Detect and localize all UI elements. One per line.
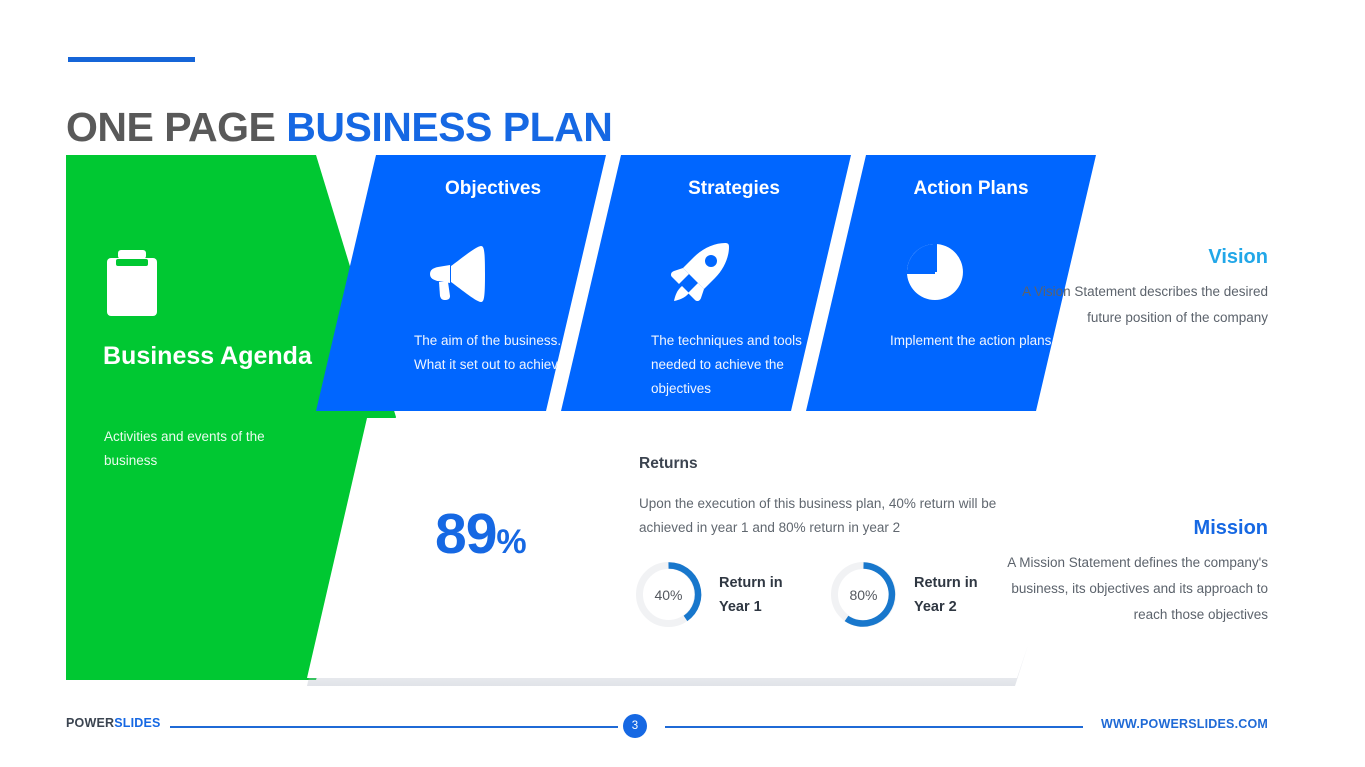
vision-body: A Vision Statement describes the desired… [1006,279,1268,331]
step-description: The techniques and tools needed to achie… [651,329,826,401]
step-card-strategies[interactable]: Strategies The techniques and tools need… [561,155,851,411]
page-title-plain: ONE PAGE [66,104,286,150]
headline-stat-number: 89 [435,502,496,566]
step-title: Strategies [619,175,849,203]
returns-panel[interactable]: 89% Returns Upon the execution of this b… [307,418,1102,678]
footer-url[interactable]: WWW.POWERSLIDES.COM [1101,717,1268,731]
pie-chart-icon [902,242,968,302]
mission-title: Mission [1006,514,1268,543]
gauge-year-1[interactable]: 40% Return in Year 1 [632,558,805,631]
footer-rule-left [170,726,618,728]
footer-brand: POWERSLIDES [66,716,161,730]
clipboard-icon [104,250,160,316]
step-description: Implement the action plans [890,329,1065,353]
rocket-icon [665,242,731,302]
mission-block: Mission A Mission Statement defines the … [1006,514,1268,628]
vision-title: Vision [1006,243,1268,272]
step-description: The aim of the business. What it set out… [414,329,589,377]
title-accent-rule [68,57,195,62]
footer-brand-plain: POWER [66,716,114,730]
headline-stat: 89% [435,506,527,563]
footer-rule-right [665,726,1083,728]
returns-heading: Returns [639,455,698,473]
step-title: Objectives [378,175,608,203]
step-title: Action Plans [856,175,1086,203]
gauge-label: Return in Year 1 [719,571,805,619]
page-title: ONE PAGE BUSINESS PLAN [66,100,612,154]
step-card-objectives[interactable]: Objectives The aim of the business. What… [316,155,606,411]
gauge-label: Return in Year 2 [914,571,1000,619]
vision-block: Vision A Vision Statement describes the … [1006,243,1268,331]
mission-body: A Mission Statement defines the company'… [1006,550,1268,628]
gauge-ring: 40% [632,558,705,631]
gauge-ring: 80% [827,558,900,631]
agenda-title: Business Agenda [103,337,333,376]
page-title-accent: BUSINESS PLAN [286,104,612,150]
footer-brand-accent: SLIDES [114,716,160,730]
gauge-year-2[interactable]: 80% Return in Year 2 [827,558,1000,631]
megaphone-icon [426,242,492,302]
gauge-value: 80% [827,558,900,631]
gauge-value: 40% [632,558,705,631]
returns-body: Upon the execution of this business plan… [639,492,1034,540]
agenda-description: Activities and events of the business [104,425,309,473]
headline-stat-unit: % [496,523,526,561]
page-number-badge: 3 [623,714,647,738]
